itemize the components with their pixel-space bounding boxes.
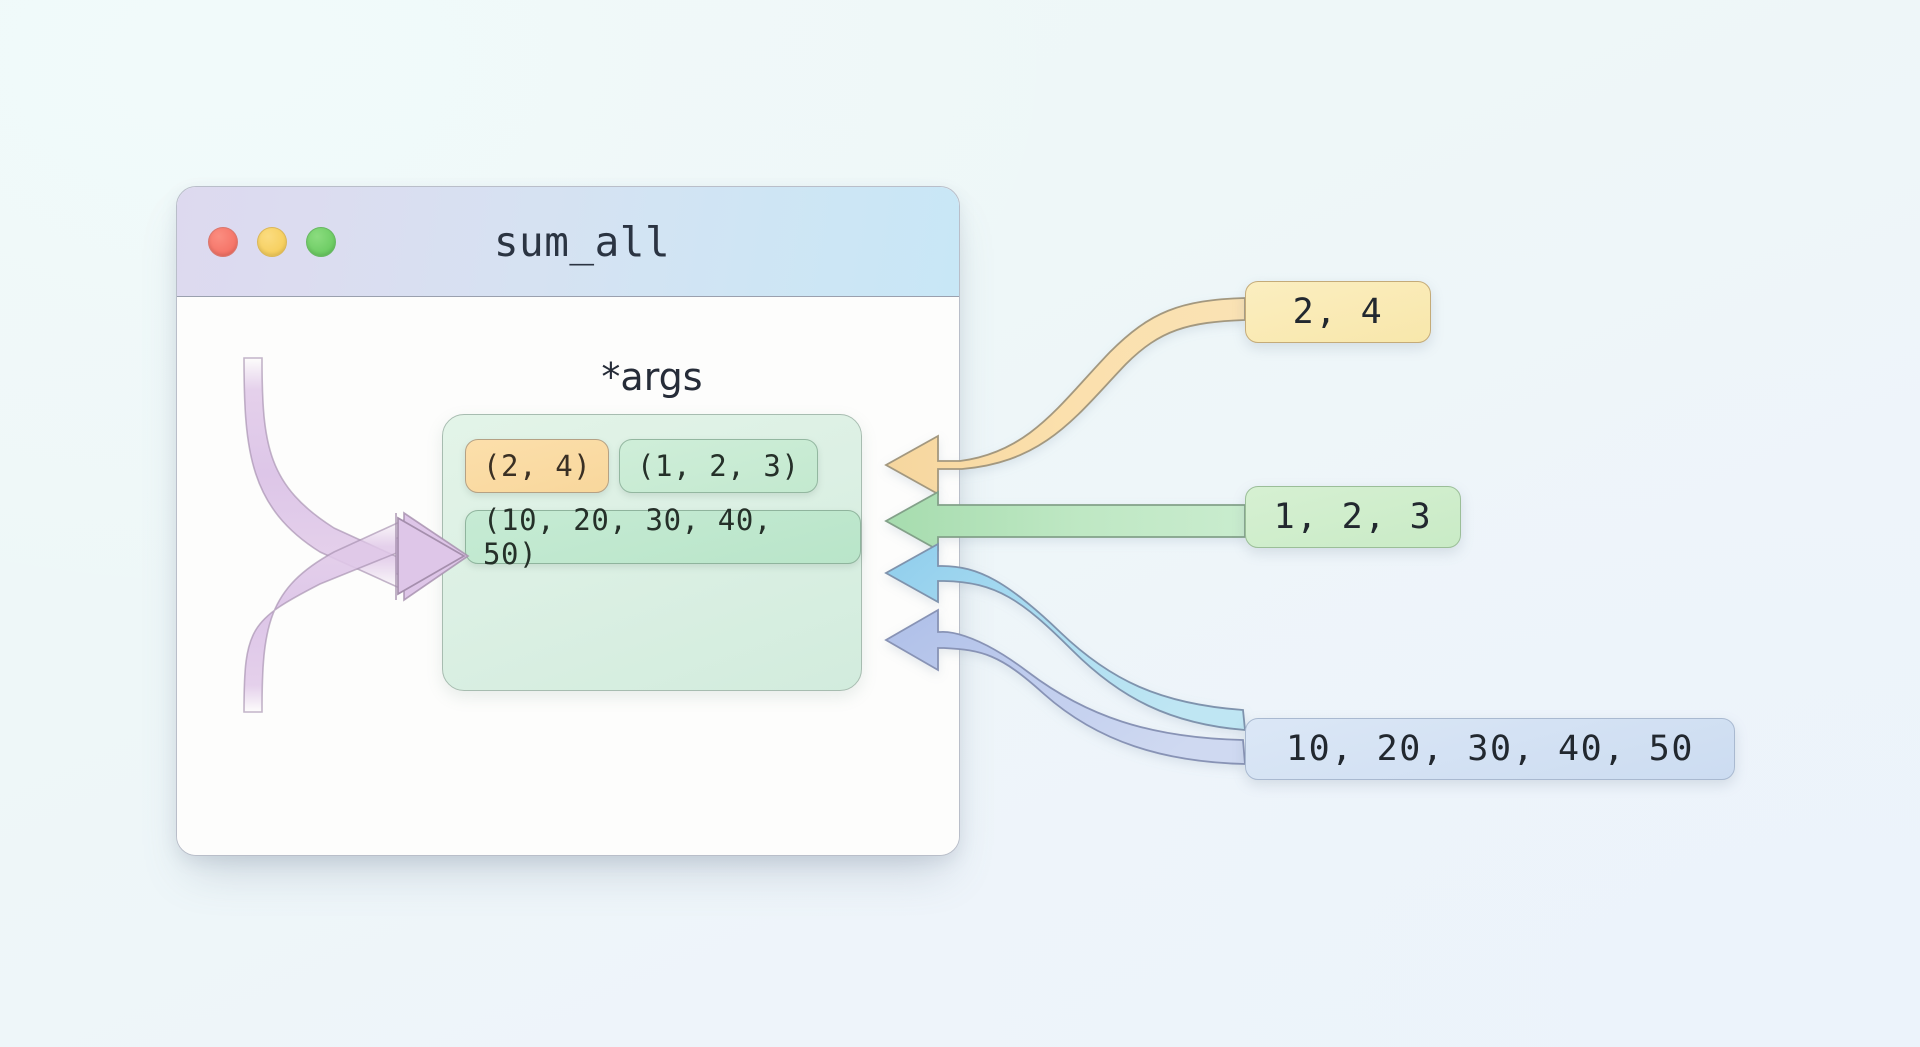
traffic-lights xyxy=(208,227,336,257)
args-label: *args xyxy=(440,355,864,399)
call-argument-pill[interactable]: 1, 2, 3 xyxy=(1245,486,1461,548)
close-button-icon[interactable] xyxy=(208,227,238,257)
args-tuple-item: (2, 4) xyxy=(465,439,609,493)
args-tuple-item: (10, 20, 30, 40, 50) xyxy=(465,510,861,564)
window-titlebar xyxy=(177,187,959,297)
call-argument-pill[interactable]: 10, 20, 30, 40, 50 xyxy=(1245,718,1735,780)
diagram-canvas: sum_all *args (2, 4) (1, 2, 3) (10, 20, … xyxy=(0,0,1920,1047)
maximize-button-icon[interactable] xyxy=(306,227,336,257)
args-container: (2, 4) (1, 2, 3) (10, 20, 30, 40, 50) xyxy=(442,414,862,691)
minimize-button-icon[interactable] xyxy=(257,227,287,257)
call-argument-pill[interactable]: 2, 4 xyxy=(1245,281,1431,343)
args-tuple-item: (1, 2, 3) xyxy=(619,439,818,493)
